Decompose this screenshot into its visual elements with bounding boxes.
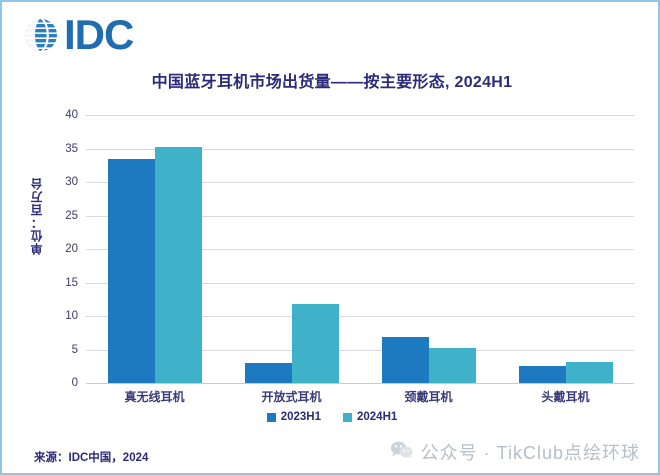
bar-2023h1 bbox=[519, 366, 566, 383]
y-axis-label: 单位：百万台 bbox=[28, 177, 45, 255]
legend-label: 2024H1 bbox=[357, 411, 397, 423]
wechat-icon bbox=[390, 440, 414, 465]
chart-legend: 2023H12024H1 bbox=[2, 411, 660, 423]
x-axis-label: 颈戴耳机 bbox=[404, 388, 452, 405]
legend-swatch bbox=[343, 413, 352, 422]
bar-2023h1 bbox=[245, 363, 292, 383]
y-axis-tick: 30 bbox=[65, 176, 78, 188]
bar-2023h1 bbox=[108, 159, 155, 383]
bar-2024h1 bbox=[566, 362, 613, 383]
bars-layer bbox=[86, 115, 634, 383]
bar-group bbox=[86, 115, 223, 383]
watermark-text: 公众号 · TikClub点绘环球 bbox=[421, 439, 640, 465]
bar-group bbox=[223, 115, 360, 383]
y-axis-tick: 15 bbox=[65, 277, 78, 289]
y-axis-tick: 40 bbox=[65, 109, 78, 121]
x-axis-label: 头戴耳机 bbox=[541, 388, 589, 405]
bar-2024h1 bbox=[155, 147, 202, 383]
y-axis-tick: 10 bbox=[65, 310, 78, 322]
source-note: 来源：IDC中国，2024 bbox=[34, 449, 148, 465]
x-axis-labels: 真无线耳机开放式耳机颈戴耳机头戴耳机 bbox=[86, 388, 634, 410]
x-axis-label: 开放式耳机 bbox=[261, 388, 321, 405]
y-axis-tick: 35 bbox=[65, 143, 78, 155]
legend-swatch bbox=[267, 413, 276, 422]
idc-logo: IDC bbox=[20, 14, 133, 56]
axis-area: 4035302520151050 bbox=[86, 115, 634, 383]
watermark: 公众号 · TikClub点绘环球 bbox=[390, 439, 640, 465]
bar-2024h1 bbox=[429, 348, 476, 383]
legend-label: 2023H1 bbox=[281, 411, 321, 423]
idc-logo-text: IDC bbox=[64, 14, 133, 56]
idc-globe-icon bbox=[20, 14, 62, 56]
bar-2023h1 bbox=[382, 337, 429, 383]
y-axis-tick: 20 bbox=[65, 243, 78, 255]
y-axis-tick: 25 bbox=[65, 210, 78, 222]
gridline: 0 bbox=[86, 383, 634, 384]
chart-page: IDC 中国蓝牙耳机市场出货量——按主要形态, 2024H1 单位：百万台 40… bbox=[0, 0, 660, 475]
bar-2024h1 bbox=[292, 304, 339, 383]
plot-area: 4035302520151050 bbox=[86, 115, 634, 391]
legend-item[interactable]: 2024H1 bbox=[343, 411, 397, 423]
chart-title: 中国蓝牙耳机市场出货量——按主要形态, 2024H1 bbox=[2, 68, 660, 92]
x-axis-label: 真无线耳机 bbox=[124, 388, 184, 405]
bar-group bbox=[360, 115, 497, 383]
y-axis-tick: 5 bbox=[72, 344, 78, 356]
legend-item[interactable]: 2023H1 bbox=[267, 411, 321, 423]
bar-group bbox=[497, 115, 634, 383]
y-axis-tick: 0 bbox=[72, 377, 78, 389]
